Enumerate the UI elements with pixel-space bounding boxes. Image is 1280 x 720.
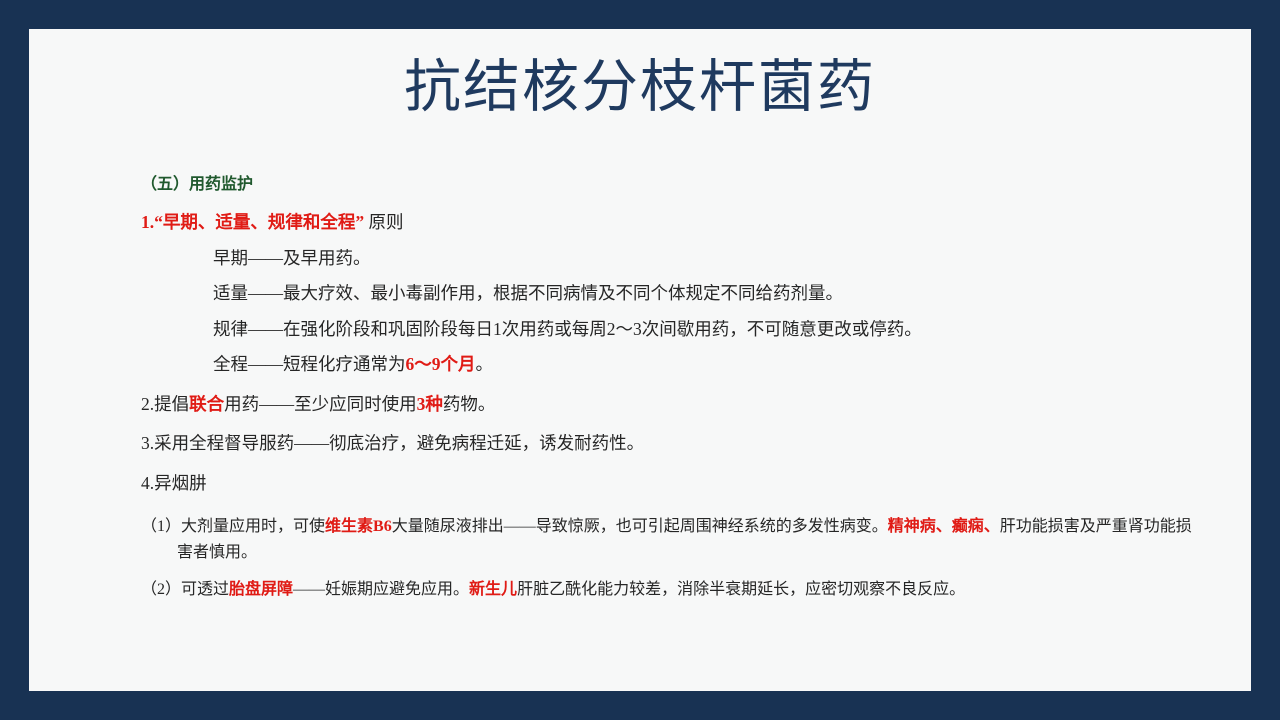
list-item-2-highlight-count: 3种 <box>417 394 443 414</box>
list-item-3: 3.采用全程督导服药——彻底治疗，避免病程迁延，诱发耐药性。 <box>141 435 1201 453</box>
list-item-4-2-suffix: 肝脏乙酰化能力较差，消除半衰期延长，应密切观察不良反应。 <box>517 581 965 598</box>
list-item-1-quote: 1.“早期、适量、规律和全程” <box>141 212 364 232</box>
sub-line-full-course-suffix: 。 <box>476 354 494 374</box>
sub-line-full-course-duration: 6～9个月 <box>406 354 476 374</box>
list-item-4: 4.异烟肼 <box>141 475 1201 493</box>
list-item-4-2-highlight-newborn: 新生儿 <box>469 581 517 598</box>
slide-body: （五）用药监护 1.“早期、适量、规律和全程” 原则 早期——及早用药。 适量—… <box>141 177 1201 614</box>
list-item-4-2-prefix: （2）可透过 <box>141 581 229 598</box>
list-item-2-middle: 用药——至少应同时使用 <box>224 394 417 414</box>
sub-line-full-course-prefix: 全程——短程化疗通常为 <box>213 354 406 374</box>
list-item-2-highlight-combo: 联合 <box>189 394 224 414</box>
list-item-1: 1.“早期、适量、规律和全程” 原则 <box>141 214 1201 232</box>
sub-line-regular: 规律——在强化阶段和巩固阶段每日1次用药或每周2～3次间歇用药，不可随意更改或停… <box>213 321 1201 339</box>
slide-root: 抗结核分枝杆菌药 （五）用药监护 1.“早期、适量、规律和全程” 原则 早期——… <box>0 0 1280 720</box>
list-item-4-2-highlight-placenta: 胎盘屏障 <box>229 581 293 598</box>
page-title: 抗结核分枝杆菌药 <box>29 55 1251 121</box>
list-item-2-prefix: 2.提倡 <box>141 394 189 414</box>
list-item-4-2: （2）可透过胎盘屏障——妊娠期应避免应用。新生儿肝脏乙酰化能力较差，消除半衰期延… <box>141 577 1201 603</box>
section-heading: （五）用药监护 <box>141 177 1201 193</box>
list-item-4-1-middle: 大量随尿液排出——导致惊厥，也可引起周围神经系统的多发性病变。 <box>392 518 888 535</box>
list-item-1-tail: 原则 <box>364 212 403 232</box>
list-item-4-1-highlight-conditions: 精神病、癫痫、 <box>888 518 1000 535</box>
sub-line-dose: 适量——最大疗效、最小毒副作用，根据不同病情及不同个体规定不同给药剂量。 <box>213 285 1201 303</box>
sub-line-full-course: 全程——短程化疗通常为6～9个月。 <box>213 356 1201 374</box>
list-item-4-2-middle: ——妊娠期应避免应用。 <box>293 581 469 598</box>
list-item-2: 2.提倡联合用药——至少应同时使用3种药物。 <box>141 396 1201 414</box>
list-item-4-1-highlight-b6: 维生素B6 <box>325 518 392 535</box>
sub-line-early: 早期——及早用药。 <box>213 250 1201 268</box>
slide-content-panel: 抗结核分枝杆菌药 （五）用药监护 1.“早期、适量、规律和全程” 原则 早期——… <box>29 29 1251 691</box>
list-item-4-1: （1）大剂量应用时，可使维生素B6大量随尿液排出——导致惊厥，也可引起周围神经系… <box>141 514 1201 566</box>
list-item-4-1-prefix: （1）大剂量应用时，可使 <box>141 518 325 535</box>
list-item-2-suffix: 药物。 <box>443 394 496 414</box>
